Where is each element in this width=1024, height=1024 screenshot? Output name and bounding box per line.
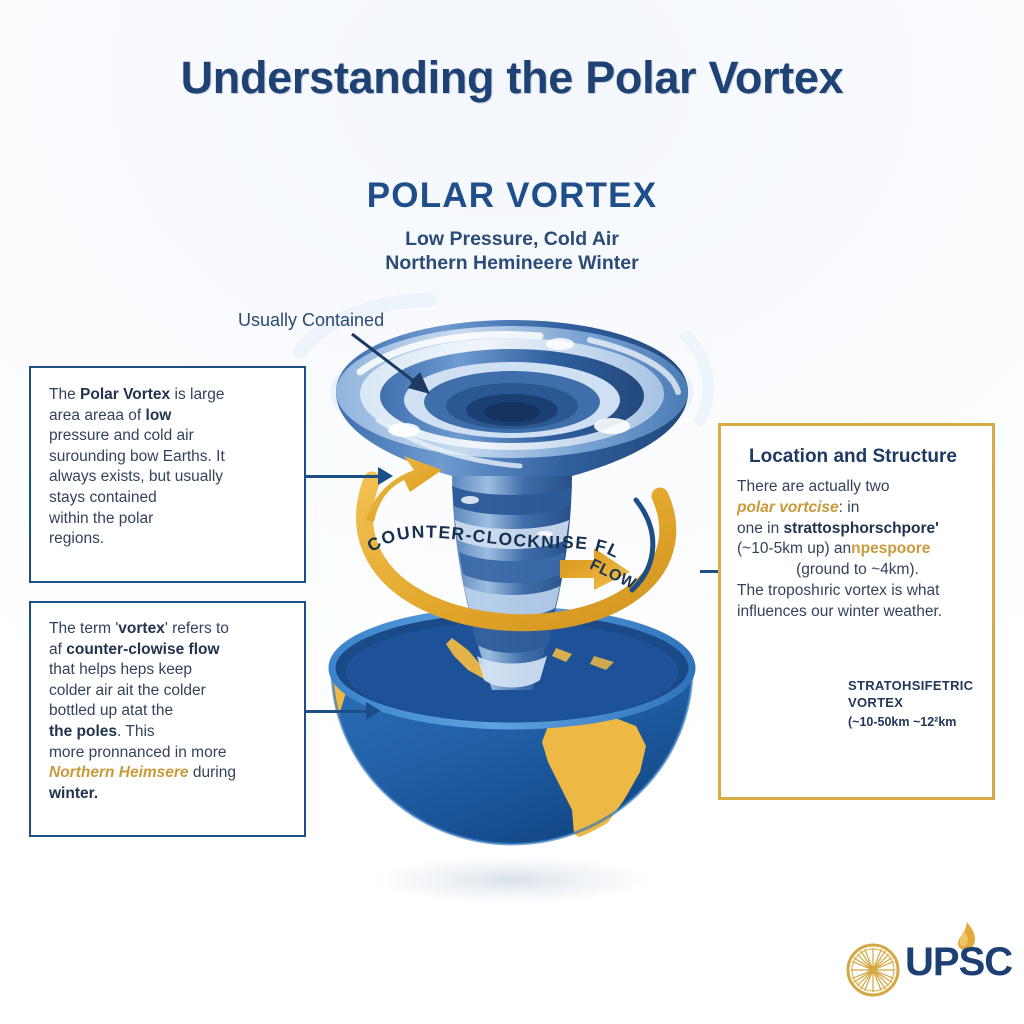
inset-label-line-3: (~10-50km ~12²km <box>848 715 956 729</box>
callout-location-and-structure: Location and Structure There are actuall… <box>718 423 995 800</box>
callout-vortex-term: The term 'vortex' refers to af counter-c… <box>29 601 306 837</box>
m8a: Northern Heimsere <box>49 764 189 781</box>
m2b: counter-clowise flow <box>66 641 219 658</box>
m8b: during <box>189 764 236 781</box>
r4b: npespoore <box>851 540 930 557</box>
l5: always exists, but usually <box>49 467 288 488</box>
upsc-logo: UPSC <box>845 942 901 998</box>
connector-right <box>700 570 720 573</box>
m1a: The term ' <box>49 620 118 637</box>
r6: The troposhıric vortex is what <box>737 581 978 602</box>
l2b: low <box>146 407 172 424</box>
l3: pressure and cold air <box>49 426 288 447</box>
r3b: strattosphorschpore' <box>784 520 939 537</box>
connector-left-bottom <box>306 710 368 713</box>
r2b: : in <box>839 499 860 516</box>
l7: within the polar <box>49 509 288 530</box>
connector-left-top <box>306 475 380 478</box>
r2a: polar vortcise <box>737 499 839 516</box>
inset-label-line-1: STRATOHSIFETRIC <box>848 678 973 694</box>
l6: stays contained <box>49 488 288 509</box>
m4: colder air ait the colder <box>49 681 288 702</box>
callout-left-top-text: The Polar Vortex is large area areaa of … <box>49 385 288 550</box>
m7: more pronnanced in more <box>49 743 288 764</box>
l1b: Polar Vortex <box>80 386 170 403</box>
l2a: area areaa of <box>49 407 146 424</box>
r7: influences our winter weather. <box>737 602 978 623</box>
m2a: af <box>49 641 66 658</box>
l4: surounding bow Earths. It <box>49 447 288 468</box>
r5: (ground to ~4km). <box>737 560 978 581</box>
l8: regions. <box>49 529 288 550</box>
inset-label-line-2: VORTEX <box>848 695 903 711</box>
m6b: . This <box>117 723 155 740</box>
l1c: is large <box>170 386 224 403</box>
connector-left-bottom-arrow <box>366 702 381 720</box>
callout-polar-vortex-definition: The Polar Vortex is large area areaa of … <box>29 366 306 583</box>
ashoka-chakra-icon <box>845 942 901 998</box>
connector-left-top-arrow <box>378 467 393 485</box>
m9: winter. <box>49 784 288 805</box>
l1a: The <box>49 386 80 403</box>
m1c: ' refers to <box>165 620 229 637</box>
callout-right-title: Location and Structure <box>749 446 978 468</box>
callout-left-bottom-text: The term 'vortex' refers to af counter-c… <box>49 619 288 804</box>
m5: bottled up atat the <box>49 701 288 722</box>
m1b: vortex <box>118 620 165 637</box>
r1: There are actually two <box>737 477 978 498</box>
r3a: one in <box>737 520 784 537</box>
r4a: (~10-5km up) an <box>737 540 851 557</box>
callout-right-text: There are actually two polar vortcise: i… <box>737 477 978 622</box>
infographic-canvas: Understanding the Polar Vortex POLAR VOR… <box>0 0 1024 1024</box>
upsc-wordmark: UPSC <box>905 940 1012 985</box>
m3: that helps heps keep <box>49 660 288 681</box>
m6a: the poles <box>49 723 117 740</box>
